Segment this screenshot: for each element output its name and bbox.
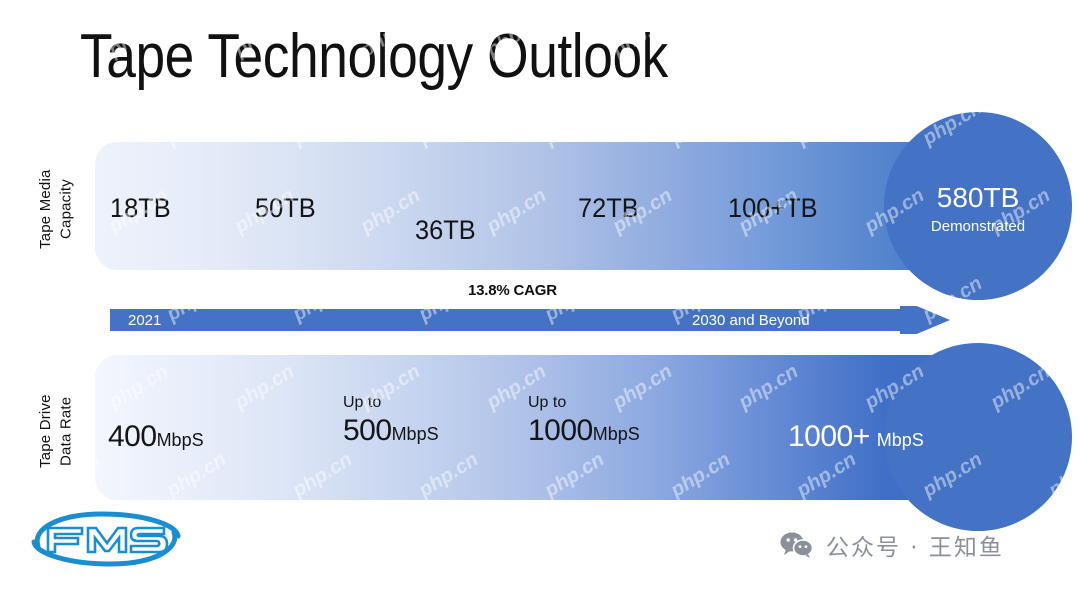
rate-milestone-400-value: 400 — [108, 420, 157, 453]
capacity-milestone-72tb: 72TB — [578, 193, 639, 224]
watermark-text: php.cn — [861, 8, 929, 62]
watermark-text: php.cn — [987, 8, 1055, 62]
watermark-text: php.cn — [231, 536, 299, 590]
capacity-milestone-100tb: 100+TB — [728, 193, 818, 224]
rate-milestone-400: 400MbpS — [108, 420, 204, 454]
capacity-milestone-18tb: 18TB — [110, 193, 171, 224]
rate-milestone-500: Up to 500MbpS — [343, 394, 439, 448]
rate-milestone-400-unit: MbpS — [157, 430, 204, 450]
watermark-text: php.cn — [483, 536, 551, 590]
capacity-milestone-50tb: 50TB — [255, 193, 316, 224]
capacity-axis-label: Tape Media Capacity — [36, 150, 77, 268]
rate-milestone-1000-prefix: Up to — [528, 394, 640, 412]
fms-logo — [26, 506, 186, 570]
rate-milestone-500-value: 500 — [343, 414, 392, 447]
capacity-highlight-value: 580TB — [884, 182, 1072, 214]
watermark-text: php.cn — [37, 272, 105, 326]
watermark-text: php.cn — [609, 536, 677, 590]
watermark-text: php.cn — [357, 536, 425, 590]
rate-milestone-1000plus-unit: MbpS — [877, 430, 924, 450]
rate-milestone-500-prefix: Up to — [343, 394, 439, 412]
wechat-label: 公众号 · 王知鱼 — [826, 528, 1004, 562]
wechat-credit: 公众号 · 王知鱼 — [780, 528, 1004, 562]
capacity-gradient-bar — [95, 142, 975, 270]
capacity-axis-label-line2: Capacity — [57, 179, 74, 239]
rate-milestone-500-unit: MbpS — [392, 424, 439, 444]
wechat-icon — [780, 532, 814, 558]
watermark-text: php.cn — [735, 8, 803, 62]
rate-axis-label-line1: Tape Drive — [37, 394, 54, 468]
watermark-text: php.cn — [37, 96, 105, 150]
arrow-start-year: 2021 — [128, 312, 161, 329]
rate-milestone-1000-unit: MbpS — [593, 424, 640, 444]
cagr-label: 13.8% CAGR — [468, 282, 557, 299]
arrow-end-year: 2030 and Beyond — [692, 312, 810, 329]
watermark-text: php.cn — [0, 8, 47, 62]
capacity-milestone-36tb: 36TB — [415, 215, 476, 246]
page-title: Tape Technology Outlook — [80, 18, 668, 96]
rate-axis-label-line2: Data Rate — [57, 396, 74, 465]
watermark-text: php.cn — [1045, 96, 1080, 150]
growth-arrow-icon — [110, 306, 950, 334]
watermark-text: php.cn — [1045, 272, 1080, 326]
rate-axis-label: Tape Drive Data Rate — [36, 372, 77, 490]
capacity-highlight-sublabel: Demonstrated — [884, 218, 1072, 235]
rate-milestone-1000: Up to 1000MbpS — [528, 394, 640, 448]
rate-milestone-1000plus-value: 1000+ — [788, 420, 870, 453]
capacity-axis-label-line1: Tape Media — [37, 169, 54, 249]
rate-milestone-1000plus: 1000+MbpS — [788, 420, 924, 454]
rate-milestone-1000-value: 1000 — [528, 414, 593, 447]
